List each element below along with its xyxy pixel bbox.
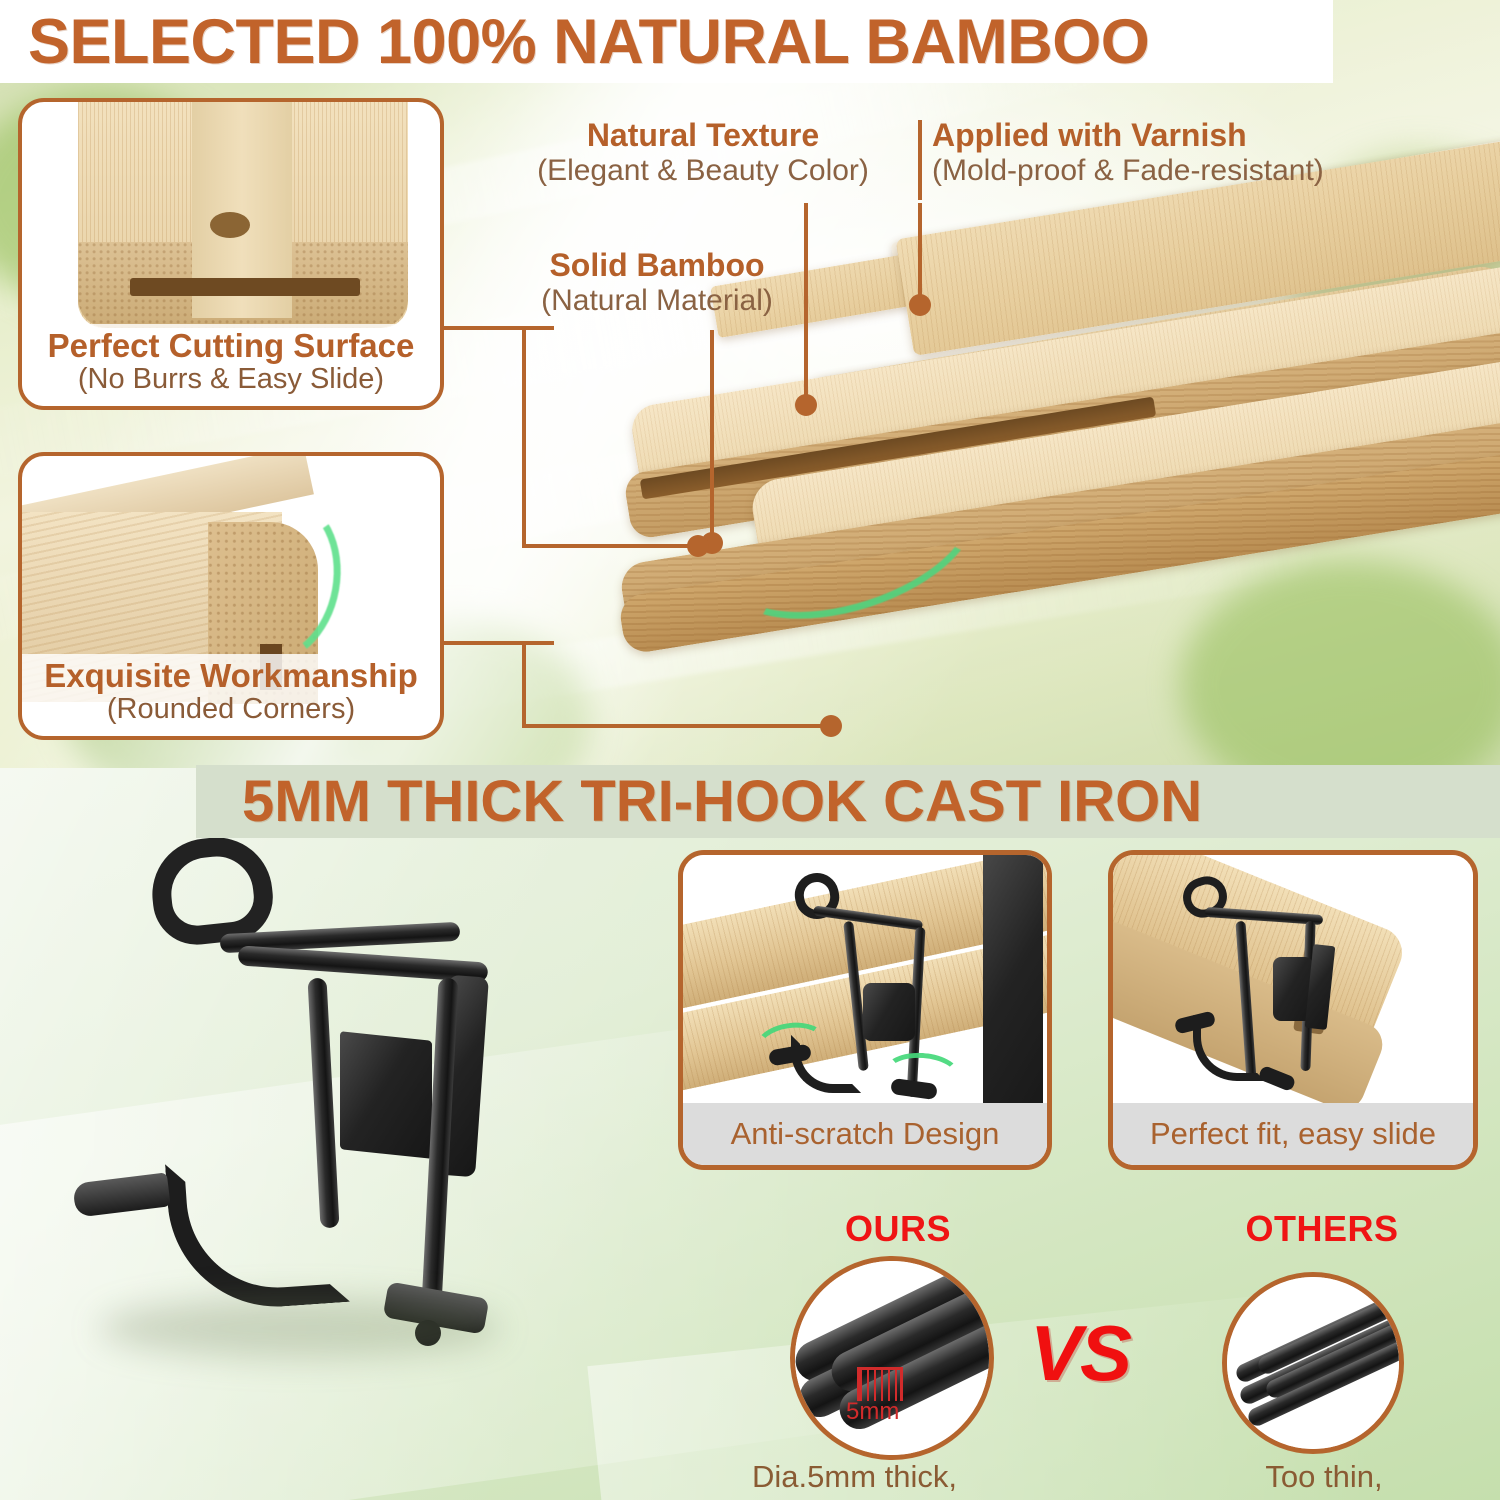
section-title-bamboo: SELECTED 100% NATURAL BAMBOO [0, 6, 1149, 78]
comparison-caption-ours: Dia.5mm thick, strong and durable [752, 1458, 1011, 1500]
feature-card-caption: Perfect Cutting Surface (No Burrs & Easy… [22, 324, 440, 406]
comparison-caption-ours-line2: strong and durable [752, 1496, 1011, 1500]
leader-line-solid-bamboo [710, 330, 714, 540]
comparison-caption-others: Too thin, easy to deform [1214, 1458, 1434, 1500]
callout-subtitle: (Mold-proof & Fade-resistant) [932, 154, 1324, 188]
hook-j-curve [165, 1152, 350, 1314]
measure-label-5mm: 5mm [846, 1398, 899, 1426]
measure-bracket [857, 1367, 903, 1401]
leader-line-cutting-surface-h1 [444, 326, 554, 330]
callout-title: Solid Bamboo [528, 248, 786, 284]
callout-varnish: Applied with Varnish (Mold-proof & Fade-… [932, 118, 1324, 187]
feature-card-cutting-surface: Perfect Cutting Surface (No Burrs & Easy… [18, 98, 444, 410]
feature-card-subtitle: (Rounded Corners) [28, 694, 434, 726]
leader-line-cutting-surface-v [522, 326, 526, 548]
section-natural-bamboo: Perfect Cutting Surface (No Burrs & Easy… [0, 0, 1500, 768]
photo-thin-rods [1227, 1277, 1399, 1449]
comparison-circle-ours [790, 1256, 994, 1460]
callout-solid-bamboo: Solid Bamboo (Natural Material) [528, 248, 786, 317]
hook-shadow [100, 1298, 500, 1358]
comparison-caption-ours-line1: Dia.5mm thick, [752, 1458, 1011, 1496]
feature-card-workmanship: Exquisite Workmanship (Rounded Corners) [18, 452, 444, 740]
leader-dot-cutting-surface [687, 535, 709, 557]
hero-hook-illustration [60, 828, 600, 1448]
feature-card-subtitle: (No Burrs & Easy Slide) [28, 364, 434, 396]
hook-clip-small [863, 983, 915, 1041]
leader-dot-workmanship [820, 715, 842, 737]
section-title-bar-bamboo: SELECTED 100% NATURAL BAMBOO [0, 0, 1333, 83]
comparison-circle-others [1222, 1272, 1404, 1454]
versus-label: VS [1030, 1308, 1130, 1399]
photo-card-caption-bar: Anti-scratch Design [683, 1103, 1047, 1165]
photo-card-caption-bar: Perfect fit, easy slide [1113, 1103, 1473, 1165]
leader-dot-natural-texture [795, 394, 817, 416]
hook-tip-left [72, 1172, 170, 1217]
leader-dot-varnish [909, 294, 931, 316]
photo-card-caption: Perfect fit, easy slide [1150, 1116, 1436, 1152]
callout-natural-texture: Natural Texture (Elegant & Beauty Color) [512, 118, 894, 187]
photo-card-anti-scratch: Anti-scratch Design [678, 850, 1052, 1170]
rail-end-cap [983, 855, 1043, 1145]
comparison-caption-others-line2: easy to deform [1214, 1496, 1434, 1500]
feature-card-title: Perfect Cutting Surface [28, 328, 434, 364]
leader-line-varnish [918, 203, 922, 303]
callout-title: Applied with Varnish [932, 118, 1324, 154]
feature-card-caption: Exquisite Workmanship (Rounded Corners) [22, 654, 440, 736]
comparison-heading-others: OTHERS [1222, 1208, 1422, 1250]
leader-line-cutting-surface-h2 [522, 544, 702, 548]
hook-mount-tab [340, 1031, 432, 1159]
section-tri-hook-cast-iron: Anti-scratch Design Perfect fit, easy sl [0, 768, 1500, 1500]
photo-card-perfect-fit: Perfect fit, easy slide [1108, 850, 1478, 1170]
comparison-caption-others-line1: Too thin, [1214, 1458, 1434, 1496]
leader-line-workmanship-v [522, 641, 526, 728]
callout-subtitle: (Elegant & Beauty Color) [512, 154, 894, 188]
photo-card-caption: Anti-scratch Design [731, 1116, 1000, 1152]
section-title-hook: 5MM THICK TRI-HOOK CAST IRON [196, 768, 1202, 835]
leader-line-workmanship-h2 [522, 724, 832, 728]
section-title-bar-hook: 5MM THICK TRI-HOOK CAST IRON [196, 765, 1500, 838]
bamboo-board-illustration [600, 120, 1500, 760]
feature-card-title: Exquisite Workmanship [28, 658, 434, 694]
callout-subtitle: (Natural Material) [528, 284, 786, 318]
callout-title: Natural Texture [512, 118, 894, 154]
infographic-page: Perfect Cutting Surface (No Burrs & Easy… [0, 0, 1500, 1500]
leader-line-varnish-label [918, 120, 922, 200]
leader-line-natural-texture [804, 203, 808, 403]
leader-line-workmanship-h1 [444, 641, 554, 645]
comparison-heading-ours: OURS [808, 1208, 988, 1250]
